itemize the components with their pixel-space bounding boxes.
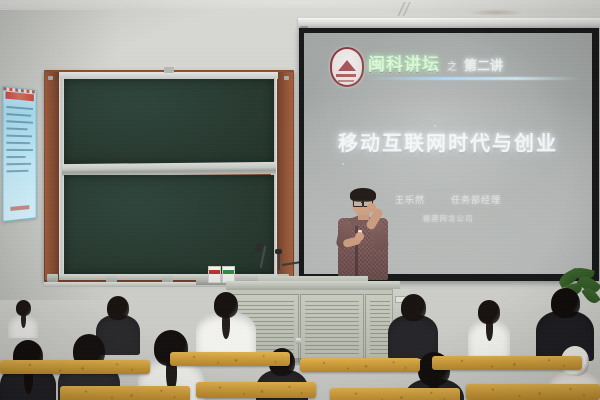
slide-speaker-name: 王乐然 [395,196,425,206]
student-desk [196,382,316,398]
chalkboard-top-clip [164,67,174,73]
student-desk [60,386,190,400]
chalkboard-trim-top [59,72,278,79]
slide-speaker-role: 任务部经理 [451,196,501,206]
chalk-box-red [208,266,221,283]
microphone-icon-2 [275,249,282,254]
presenter-hand-left [355,232,364,241]
lecture-hall-photo: 闽科讲坛 之 第二讲 移动互联网时代与创业 王乐然 任务部经理 福建网龙公司 [0,0,600,400]
chalkboard-rail-left [45,72,59,280]
glasses-bridge [361,202,364,203]
slide-header-session: 第二讲 [464,55,503,74]
slide-header: 闽科讲坛 之 第二讲 [368,50,578,75]
student-desk [330,388,460,400]
student-desk [466,384,600,400]
chalkboard-panel-upper [64,79,274,164]
ceiling-mark [392,2,414,16]
chalkboard-divider-rail [62,162,276,176]
lectern-top [226,281,400,290]
cabinet-door-right[interactable] [300,294,364,362]
student-desk [0,360,150,374]
audience-member [8,300,38,342]
slide-header-title: 闽科讲坛 [368,50,440,75]
university-emblem-icon [330,47,364,87]
student-desk [432,356,582,370]
presenter [332,190,394,286]
chalkboard-panel-lower [64,175,274,274]
presenter-shirt-placket [355,220,358,278]
audience-member-ponytail [21,312,26,328]
student-desk [300,358,420,372]
audience-member [468,300,510,362]
student-desk [170,352,290,366]
audience-member-head [401,294,426,321]
presenter-hand-right [367,203,376,212]
audience-member-ponytail [486,317,493,341]
audience-member-head [107,296,129,320]
audience-member-head [551,288,580,318]
slide-main-title: 移动互联网时代与创业 [304,127,592,156]
slide-header-connector: 之 [447,58,457,73]
microphone-stand-2 [278,252,280,270]
ceiling-stain [468,9,524,16]
slide-divider-rule [366,77,581,80]
cabinet-handle[interactable] [296,338,301,344]
wall-notice-poster [2,86,36,222]
poster-footer-stamp [10,205,29,211]
